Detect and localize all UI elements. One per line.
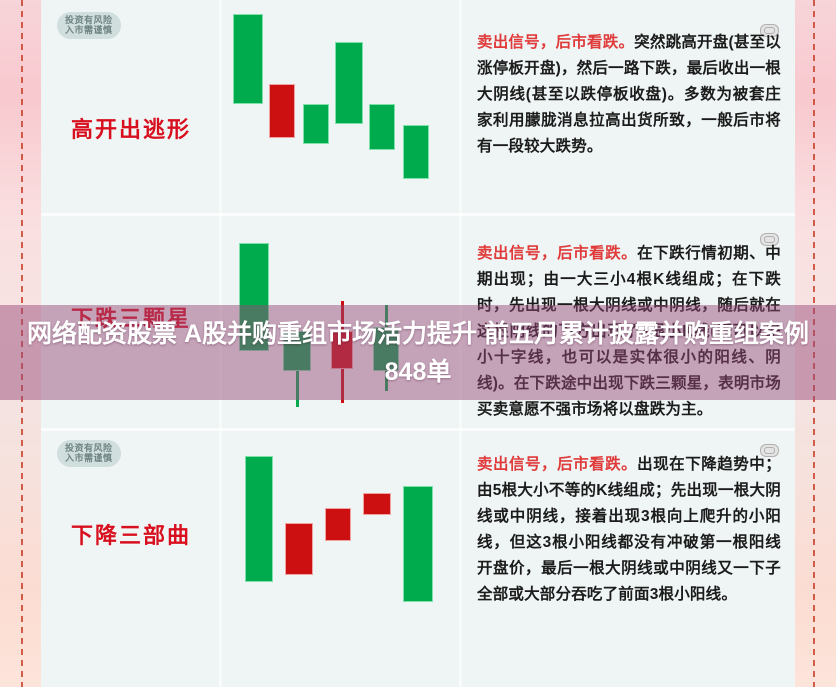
candle-body-bullish [369, 104, 395, 150]
signal-body-3: 出现在下降趋势中；由5根大小不等的K线组成；先出现一根大阴线或中阴线，接着出现3… [477, 456, 781, 603]
candle-body-bullish [403, 125, 429, 179]
signal-body-1: 突然跳高开盘(甚至以涨停板开盘)，然后一路下跌，最后收出一根大阴线(甚至以跌停板… [477, 34, 781, 155]
pattern-name-3: 下降三部曲 [41, 518, 221, 550]
description-cell-1: 卖出信号，后市看跌。突然跳高开盘(甚至以涨停板开盘)，然后一路下跌，最后收出一根… [461, 0, 795, 213]
screenshot-root: 投资有风险 入市需谨慎 高开出逃形 卖出信号，后市看跌。突然跳高开盘(甚至以涨停… [0, 0, 836, 687]
signal-highlight-1: 卖出信号，后市看跌。 [477, 34, 634, 51]
candle-body-bullish [335, 42, 363, 124]
candlestick-chart-3 [221, 428, 461, 687]
candle-body-bearish [269, 84, 295, 138]
pattern-row-1: 投资有风险 入市需谨慎 高开出逃形 卖出信号，后市看跌。突然跳高开盘(甚至以涨停… [41, 0, 795, 213]
candle-body-bullish [303, 104, 329, 144]
description-cell-3: 卖出信号，后市看跌。出现在下降趋势中；由5根大小不等的K线组成；先出现一根大阴线… [461, 428, 795, 687]
headline-subline: 848单 [385, 353, 452, 391]
pattern-name-1: 高开出逃形 [41, 112, 221, 144]
candle-body-bullish [245, 456, 273, 582]
signal-highlight-2: 卖出信号，后市看跌。 [477, 245, 637, 262]
description-text-3: 卖出信号，后市看跌。出现在下降趋势中；由5根大小不等的K线组成；先出现一根大阴线… [477, 452, 781, 608]
watermark-line-2b: 入市需谨慎 [65, 453, 113, 463]
candle-body-bullish [233, 14, 263, 104]
risk-watermark-2: 投资有风险 入市需谨慎 [57, 440, 121, 467]
pattern-label-cell-1: 投资有风险 入市需谨慎 高开出逃形 [41, 0, 221, 213]
signal-highlight-3: 卖出信号，后市看跌。 [477, 456, 637, 473]
candle-body-bearish [325, 508, 351, 541]
description-text-1: 卖出信号，后市看跌。突然跳高开盘(甚至以涨停板开盘)，然后一路下跌，最后收出一根… [477, 30, 781, 160]
watermark-line-1: 投资有风险 [65, 15, 113, 25]
risk-watermark-1: 投资有风险 入市需谨慎 [57, 12, 121, 39]
pattern-label-cell-3: 投资有风险 入市需谨慎 下降三部曲 [41, 428, 221, 687]
headline-text: 网络配资股票 A股并购重组市场活力提升 前五月累计披露并购重组案例 [27, 315, 809, 353]
watermark-line-2: 入市需谨慎 [65, 25, 113, 35]
candlestick-chart-1 [221, 0, 461, 213]
candle-body-bearish [363, 493, 391, 515]
pattern-row-3: 投资有风险 入市需谨慎 下降三部曲 卖出信号，后市看跌。出现在下降趋势中；由5根… [41, 428, 795, 687]
watermark-line-1b: 投资有风险 [65, 443, 113, 453]
candle-body-bearish [285, 523, 313, 575]
headline-overlay-band: 网络配资股票 A股并购重组市场活力提升 前五月累计披露并购重组案例 848单 [0, 305, 836, 400]
candle-body-bullish [403, 486, 433, 602]
